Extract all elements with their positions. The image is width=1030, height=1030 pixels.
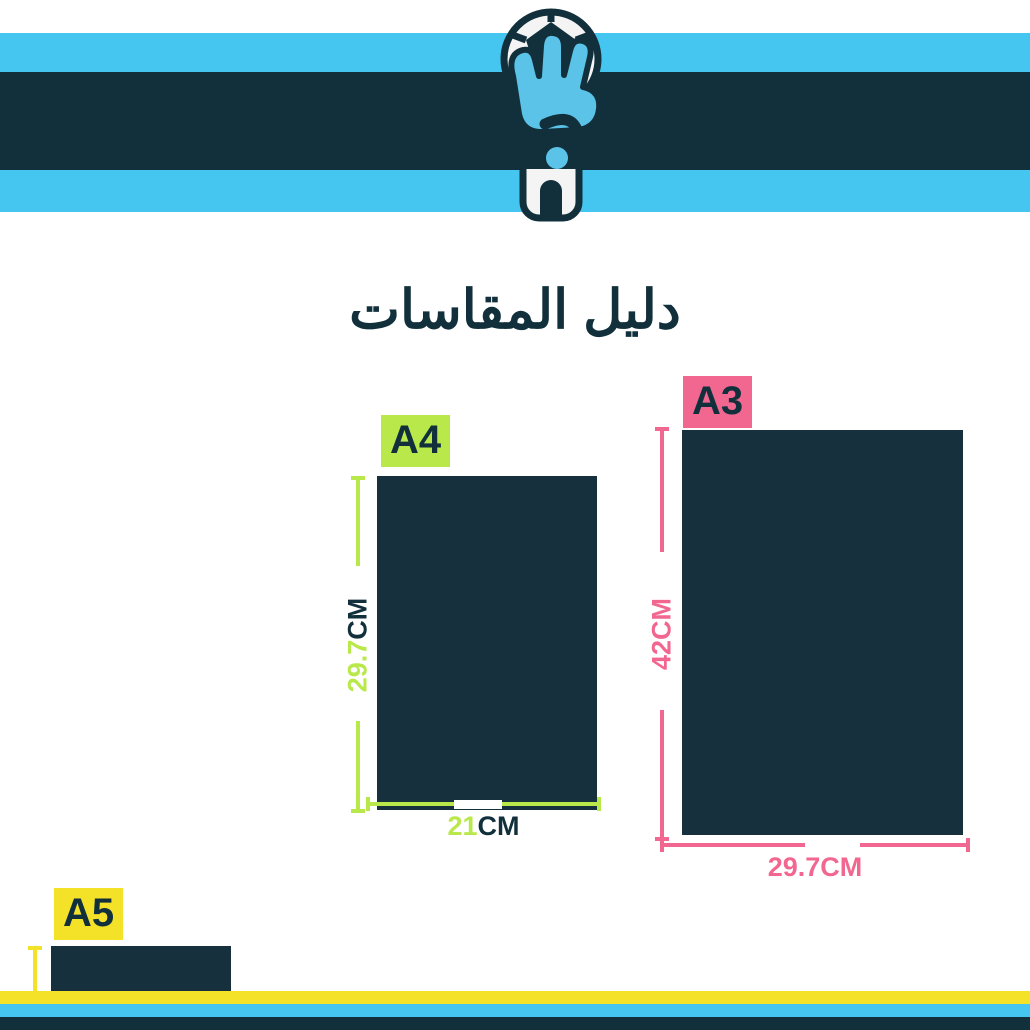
dimension-height-label-a3: 42CM [649, 598, 676, 670]
size-badge-a3: A3 [683, 376, 752, 428]
footer-stripe-navy [0, 1017, 1030, 1030]
footer-stripe-yellow [0, 991, 1030, 1004]
size-guide-infographic: دليل المقاسات A5 21CM 14.8CM A4 [0, 0, 1030, 1030]
dimension-height-a3: 42CM [655, 427, 669, 841]
footer-stripe-cyan [0, 1004, 1030, 1017]
paper-rect-a3 [682, 430, 963, 835]
size-block-a3: A3 42CM 29.7CM [0, 0, 1030, 900]
dimension-width-a3: 29.7CM [660, 838, 970, 852]
dimension-width-label-a3: 29.7CM [768, 854, 863, 881]
